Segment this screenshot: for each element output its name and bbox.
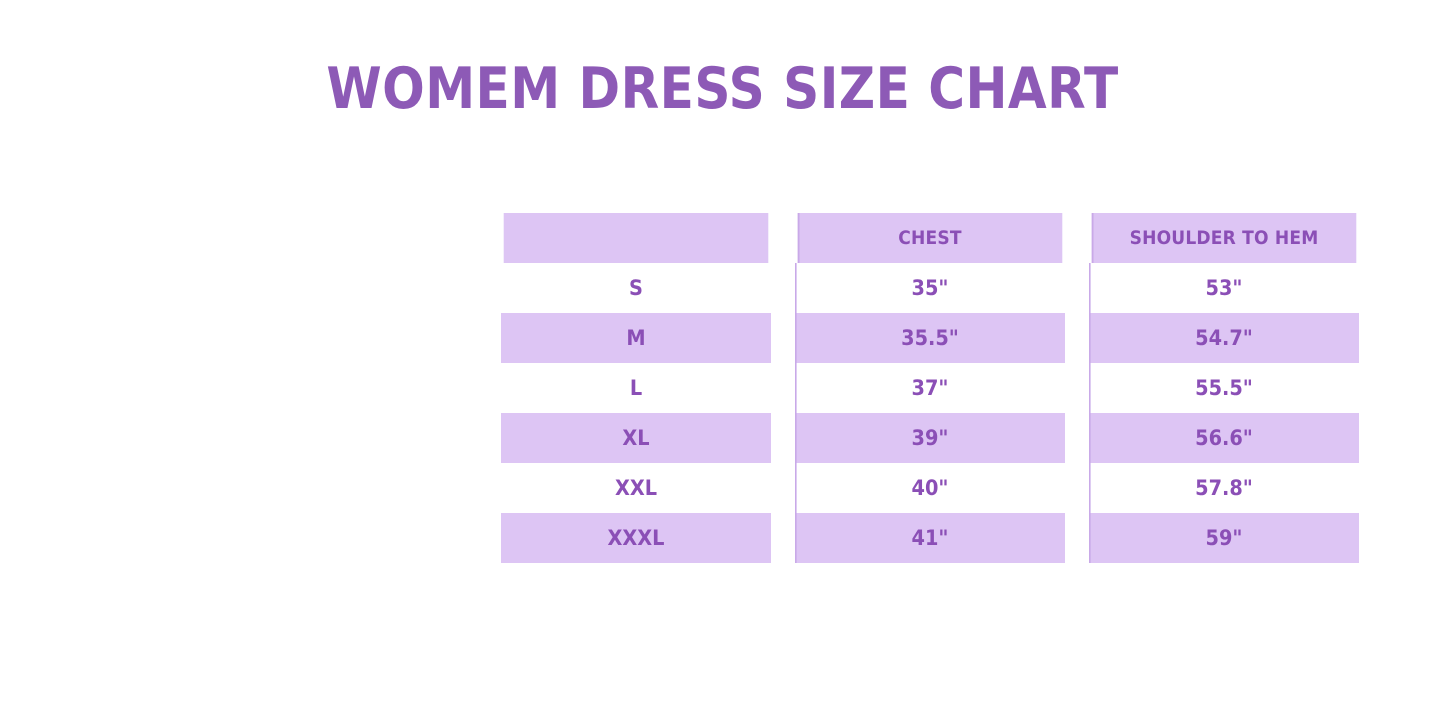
cell-chest: 39" [795,413,1065,463]
page-title: WOMEM DRESS SIZE CHART [87,54,1359,124]
cell-size: M [501,313,771,363]
cell-chest: 41" [795,513,1065,563]
table-row: L 37" 55.5" [489,363,1371,413]
cell-chest: 35.5" [795,313,1065,363]
table-row: M 35.5" 54.7" [489,313,1371,363]
cell-shoulder-to-hem: 56.6" [1089,413,1359,463]
table-row: S 35" 53" [489,263,1371,313]
size-chart-table: CHEST SHOULDER TO HEM S 35" 53" M 35.5" … [489,213,1371,563]
size-chart-page: WOMEM DRESS SIZE CHART CHEST SHOULDER TO… [0,0,1445,723]
table-row: XXXL 41" 59" [489,513,1371,563]
cell-size: XXXL [501,513,771,563]
cell-chest: 35" [795,263,1065,313]
cell-shoulder-to-hem: 59" [1089,513,1359,563]
cell-chest: 37" [795,363,1065,413]
table-row: XL 39" 56.6" [489,413,1371,463]
cell-chest: 40" [795,463,1065,513]
cell-shoulder-to-hem: 54.7" [1089,313,1359,363]
column-header-size [504,213,769,263]
cell-size: S [501,263,771,313]
cell-shoulder-to-hem: 57.8" [1089,463,1359,513]
table-header-row: CHEST SHOULDER TO HEM [489,213,1371,263]
table-body: S 35" 53" M 35.5" 54.7" L 37" 55.5" XL 3… [489,263,1371,563]
cell-size: XL [501,413,771,463]
column-header-chest: CHEST [798,213,1063,263]
cell-shoulder-to-hem: 55.5" [1089,363,1359,413]
table-header: CHEST SHOULDER TO HEM [489,213,1371,263]
table-row: XXL 40" 57.8" [489,463,1371,513]
column-header-shoulder-to-hem: SHOULDER TO HEM [1092,213,1357,263]
cell-size: L [501,363,771,413]
cell-shoulder-to-hem: 53" [1089,263,1359,313]
cell-size: XXL [501,463,771,513]
